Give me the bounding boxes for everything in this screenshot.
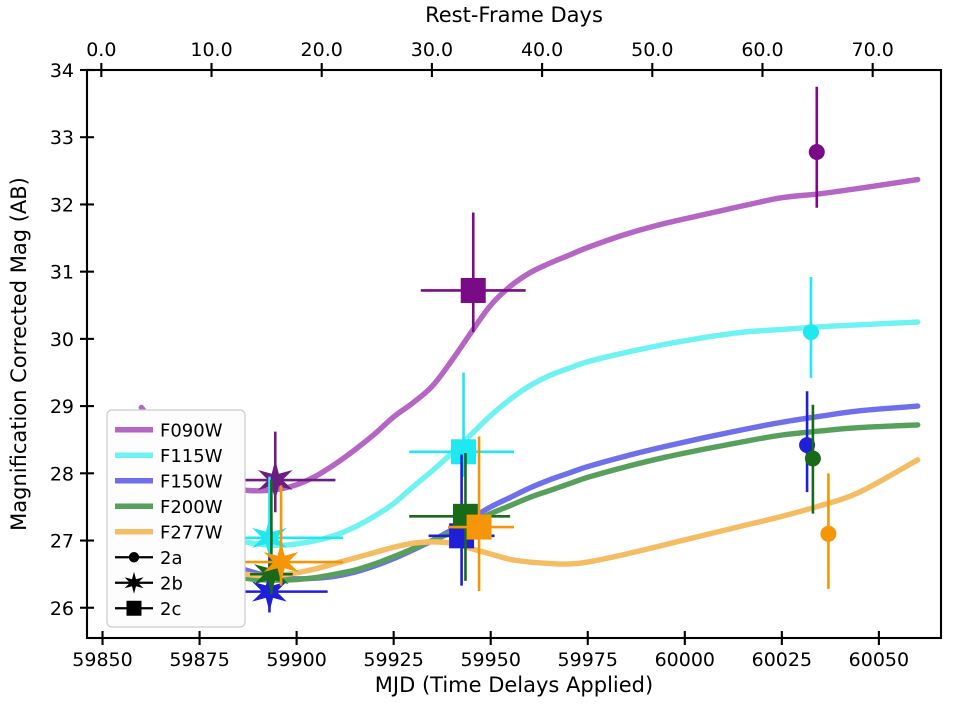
x2-tick-label: 30.0 [411,39,453,61]
lightcurve-plot: 5985059875599005992559950599756000060025… [0,0,974,716]
x-tick-label: 59900 [266,649,326,671]
point-2a-F115W [803,277,819,378]
point-2c-F090W [421,213,526,333]
x-tick-label: 59950 [460,649,520,671]
axis-titles: Rest-Frame DaysMJD (Time Delays Applied)… [7,3,653,697]
legend-item-label: F200W [160,497,223,518]
legend-item-label: 2c [160,599,181,620]
marker-square [461,278,486,303]
point-2a-F277W [820,473,836,589]
x-tick-label: 60050 [849,649,909,671]
y-tick-label: 28 [50,463,74,485]
y-tick-label: 30 [50,329,74,351]
legend-box [107,410,245,627]
x2-tick-label: 70.0 [852,39,894,61]
legend-item-label: 2b [160,573,183,594]
x2-tick-label: 10.0 [190,39,232,61]
legend-square-icon [127,601,142,616]
x2-tick-label: 40.0 [521,39,563,61]
y-tick-label: 34 [50,60,74,82]
x2-tick-label: 20.0 [301,39,343,61]
left-axis-title: Magnification Corrected Mag (AB) [7,177,31,531]
marker-circle [809,144,825,160]
data-points [184,87,836,613]
x-tick-label: 59975 [558,649,618,671]
marker-circle [803,324,819,340]
x-tick-label: 59925 [363,649,423,671]
x2-tick-label: 60.0 [741,39,783,61]
y-tick-label: 32 [50,194,74,216]
marker-square [451,439,476,464]
x-tick-label: 60000 [655,649,715,671]
marker-circle [820,526,836,542]
point-2a-F090W [809,87,825,208]
y-tick-label: 26 [50,598,74,620]
x2-tick-label: 0.0 [86,39,116,61]
curve-F277W [141,460,917,576]
bottom-axis-title: MJD (Time Delays Applied) [375,673,653,697]
marker-square [467,515,492,540]
legend[interactable]: F090WF115WF150WF200WF277W2a2b2c [107,410,245,627]
legend-item-label: F115W [160,446,223,467]
y-tick-label: 27 [50,531,74,553]
x2-tick-label: 50.0 [631,39,673,61]
legend-item-label: F150W [160,471,223,492]
legend-item-label: 2a [160,548,182,569]
top-axis-title: Rest-Frame Days [425,3,603,27]
legend-circle-icon [129,552,139,562]
model-curves [141,180,917,581]
x-tick-label: 60025 [752,649,812,671]
marker-circle [805,451,821,467]
y-tick-label: 33 [50,127,74,149]
x-tick-label: 59850 [72,649,132,671]
legend-item-label: F090W [160,420,223,441]
y-tick-label: 29 [50,396,74,418]
x-tick-label: 59875 [169,649,229,671]
legend-item-label: F277W [160,522,223,543]
point-2c-F200W [409,453,510,581]
y-tick-label: 31 [50,262,74,284]
figure-root: 5985059875599005992559950599756000060025… [0,0,974,716]
